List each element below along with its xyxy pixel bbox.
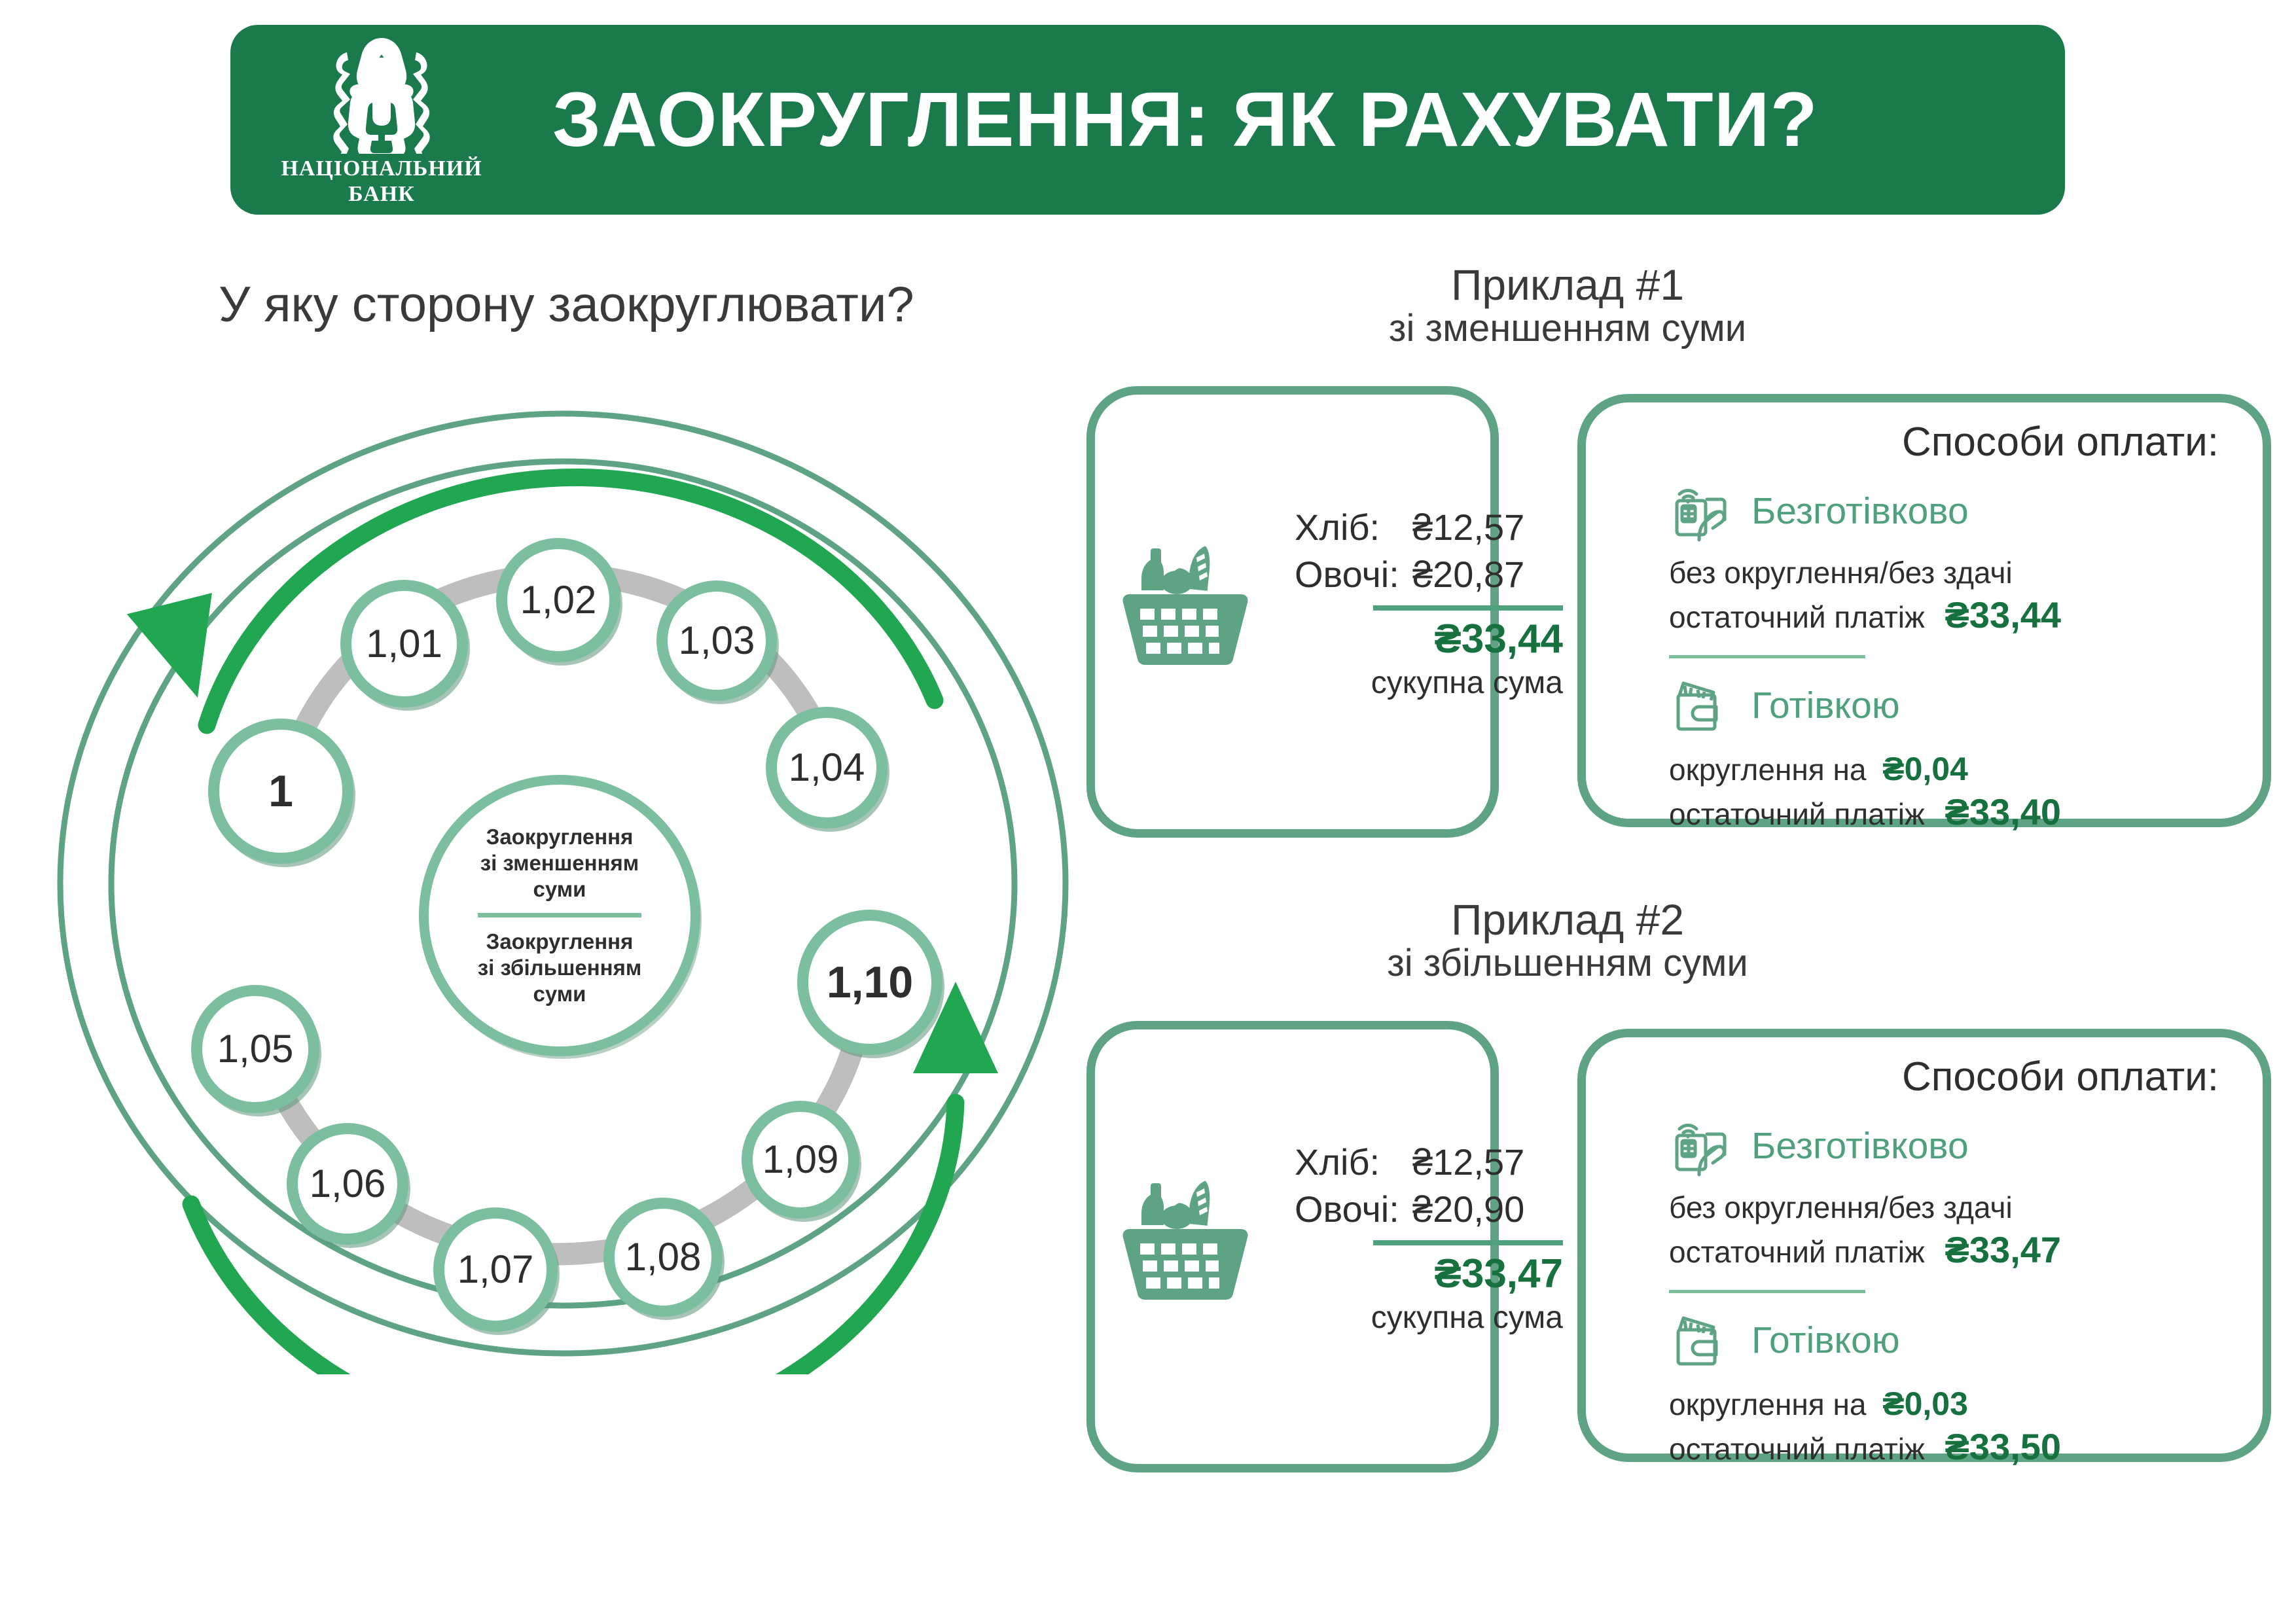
wheel-node-1-10[interactable]: 1,10 (797, 910, 942, 1055)
infographic-page: НАЦІОНАЛЬНИЙ БАНК ЗАОКРУГЛЕННЯ: ЯК РАХУВ… (0, 0, 2296, 1623)
receipt-item-row: Овочі: ₴20,90 (1295, 1186, 1563, 1233)
wheel-node-label: 1,02 (520, 580, 597, 620)
contactless-card-icon (1669, 1112, 1737, 1180)
nbu-logo-line1: НАЦІОНАЛЬНИЙ (281, 156, 482, 181)
page-header: НАЦІОНАЛЬНИЙ БАНК ЗАОКРУГЛЕННЯ: ЯК РАХУВ… (230, 25, 2065, 215)
payment-final-cashless: остаточний платіж ₴33,47 (1669, 1227, 2219, 1273)
example-2-subtitle: зі збільшенням суми (1208, 943, 1928, 984)
legend-increase: Заокруглення зі збільшенням суми (478, 929, 642, 1008)
example-1-subtitle: зі зменшенням суми (1208, 308, 1928, 349)
receipt-item-row: Хліб: ₴12,57 (1295, 1139, 1563, 1186)
wheel-node-label: 1 (268, 769, 293, 813)
example-2-heading: Приклад #2 зі збільшенням суми (1208, 897, 1928, 984)
legend-decrease-line2: зі зменшенням (480, 850, 639, 876)
wheel-node-label: 1,07 (457, 1250, 534, 1289)
receipt-item-row: Овочі: ₴20,87 (1295, 551, 1563, 598)
nbu-logo-line2: БАНК (281, 182, 482, 207)
receipt-item-value: ₴20,87 (1412, 551, 1563, 598)
example-1-receipt: Хліб: ₴12,57 Овочі: ₴20,87 ₴33,44 сукупн… (1117, 504, 1563, 701)
payment-final-label: остаточний платіж (1669, 600, 1925, 634)
example-1-title: Приклад #1 (1208, 262, 1928, 308)
receipt-item-value: ₴12,57 (1412, 504, 1563, 551)
page-title: ЗАОКРУГЛЕННЯ: ЯК РАХУВАТИ? (552, 75, 1818, 164)
payment-methods-divider (1669, 1290, 1865, 1293)
receipt-item-label: Овочі: (1295, 1186, 1412, 1233)
receipt-total-amount: ₴33,47 (1295, 1251, 1563, 1297)
payment-final-amount: ₴33,44 (1945, 594, 2062, 635)
wallet-cash-icon (1669, 1306, 1737, 1374)
payment-method-cash: Готівкою (1669, 671, 2219, 740)
payment-rounding-label: округлення на (1669, 753, 1866, 787)
legend-decrease-line1: Заокруглення (480, 824, 639, 850)
example-2-receipt-lines: Хліб: ₴12,57 Овочі: ₴20,90 ₴33,47 сукупн… (1295, 1139, 1563, 1336)
payment-note-cashless: без округлення/без здачі (1669, 554, 2219, 592)
payment-method-name: Безготівково (1751, 490, 1969, 533)
wheel-node-label: 1,03 (679, 621, 755, 660)
payment-rounding-amount: ₴0,04 (1882, 751, 1968, 787)
payment-method-cashless: Безготівково (1669, 477, 2219, 545)
payment-final-label: остаточний платіж (1669, 797, 1925, 831)
payment-rounding-cash: округлення на ₴0,03 (1669, 1383, 2219, 1425)
example-1-panels: Хліб: ₴12,57 Овочі: ₴20,87 ₴33,44 сукупн… (1080, 380, 2291, 851)
example-1-receipt-lines: Хліб: ₴12,57 Овочі: ₴20,87 ₴33,44 сукупн… (1295, 504, 1563, 701)
payment-method-name: Безготівково (1751, 1124, 1969, 1168)
receipt-item-row: Хліб: ₴12,57 (1295, 504, 1563, 551)
payment-rounding-amount: ₴0,03 (1882, 1385, 1968, 1422)
legend-decrease: Заокруглення зі зменшенням суми (480, 824, 639, 903)
payment-methods-divider (1669, 655, 1865, 658)
example-2-title: Приклад #2 (1208, 897, 1928, 943)
example-1-heading: Приклад #1 зі зменшенням суми (1208, 262, 1928, 349)
payment-rounding-label: округлення на (1669, 1387, 1866, 1421)
wheel-node-1-08[interactable]: 1,08 (603, 1198, 723, 1317)
legend-divider (478, 913, 641, 918)
nbu-logo-text: НАЦІОНАЛЬНИЙ БАНК (281, 156, 482, 206)
receipt-total-caption: сукупна сума (1295, 665, 1563, 701)
example-2-payment: Способи оплати: Безготівков (1669, 1054, 2219, 1470)
payment-methods-title: Способи оплати: (1669, 1054, 2219, 1100)
payment-final-amount: ₴33,47 (1945, 1229, 2062, 1270)
example-2-panels: Хліб: ₴12,57 Овочі: ₴20,90 ₴33,47 сукупн… (1080, 1014, 2291, 1486)
receipt-item-label: Овочі: (1295, 551, 1412, 598)
receipt-total-rule (1373, 1240, 1563, 1245)
wheel-node-1[interactable]: 1 (208, 719, 353, 864)
wheel-center-legend: Заокруглення зі зменшенням суми Заокругл… (419, 775, 700, 1056)
nbu-coat-of-arms-icon (306, 33, 457, 154)
example-2-receipt: Хліб: ₴12,57 Овочі: ₴20,90 ₴33,47 сукупн… (1117, 1139, 1563, 1336)
wheel-node-1-01[interactable]: 1,01 (340, 580, 468, 707)
shopping-basket-icon (1117, 534, 1254, 671)
wheel-node-label: 1,06 (310, 1164, 386, 1204)
wheel-node-1-07[interactable]: 1,07 (433, 1207, 558, 1332)
shopping-basket-icon (1117, 1169, 1254, 1306)
legend-increase-line3: суми (478, 981, 642, 1007)
wheel-node-1-03[interactable]: 1,03 (656, 580, 777, 701)
payment-method-name: Готівкою (1751, 1319, 1900, 1362)
receipt-total-amount: ₴33,44 (1295, 616, 1563, 662)
payment-final-cash: остаточний платіж ₴33,40 (1669, 789, 2219, 835)
contactless-card-icon (1669, 477, 1737, 545)
wheel-node-1-06[interactable]: 1,06 (287, 1123, 408, 1245)
example-1-payment: Способи оплати: Безготівков (1669, 419, 2219, 835)
wheel-node-label: 1,08 (625, 1238, 702, 1277)
receipt-total-caption: сукупна сума (1295, 1300, 1563, 1336)
wheel-node-1-02[interactable]: 1,02 (496, 538, 620, 662)
wheel-node-label: 1,10 (827, 960, 913, 1005)
wheel-node-1-09[interactable]: 1,09 (742, 1101, 859, 1219)
payment-methods-title: Способи оплати: (1669, 419, 2219, 465)
receipt-item-label: Хліб: (1295, 504, 1412, 551)
payment-method-cash: Готівкою (1669, 1306, 2219, 1374)
wheel-node-label: 1,05 (217, 1029, 294, 1069)
nbu-logo: НАЦІОНАЛЬНИЙ БАНК (274, 31, 490, 208)
receipt-item-value: ₴20,90 (1412, 1186, 1563, 1233)
payment-final-cash: остаточний платіж ₴33,50 (1669, 1424, 2219, 1470)
legend-increase-line1: Заокруглення (478, 929, 642, 955)
legend-increase-line2: зі збільшенням (478, 955, 642, 981)
receipt-item-label: Хліб: (1295, 1139, 1412, 1186)
wheel-node-1-04[interactable]: 1,04 (766, 707, 888, 829)
payment-final-label: остаточний платіж (1669, 1235, 1925, 1269)
payment-final-amount: ₴33,50 (1945, 1426, 2062, 1467)
wallet-cash-icon (1669, 671, 1737, 740)
payment-method-cashless: Безготівково (1669, 1112, 2219, 1180)
wheel-node-label: 1,01 (366, 624, 442, 664)
payment-method-name: Готівкою (1751, 684, 1900, 727)
payment-final-label: остаточний платіж (1669, 1432, 1925, 1466)
payment-final-amount: ₴33,40 (1945, 791, 2062, 832)
wheel-node-1-05[interactable]: 1,05 (191, 985, 319, 1113)
legend-decrease-line3: суми (480, 876, 639, 902)
wheel-node-label: 1,09 (762, 1140, 839, 1179)
receipt-total-rule (1373, 605, 1563, 611)
wheel-node-label: 1,04 (789, 748, 865, 787)
payment-note-cashless: без округлення/без здачі (1669, 1189, 2219, 1227)
payment-rounding-cash: округлення на ₴0,04 (1669, 749, 2219, 790)
payment-final-cashless: остаточний платіж ₴33,44 (1669, 592, 2219, 638)
wheel-question: У яку сторону заокруглювати? (219, 276, 914, 333)
receipt-item-value: ₴12,57 (1412, 1139, 1563, 1186)
